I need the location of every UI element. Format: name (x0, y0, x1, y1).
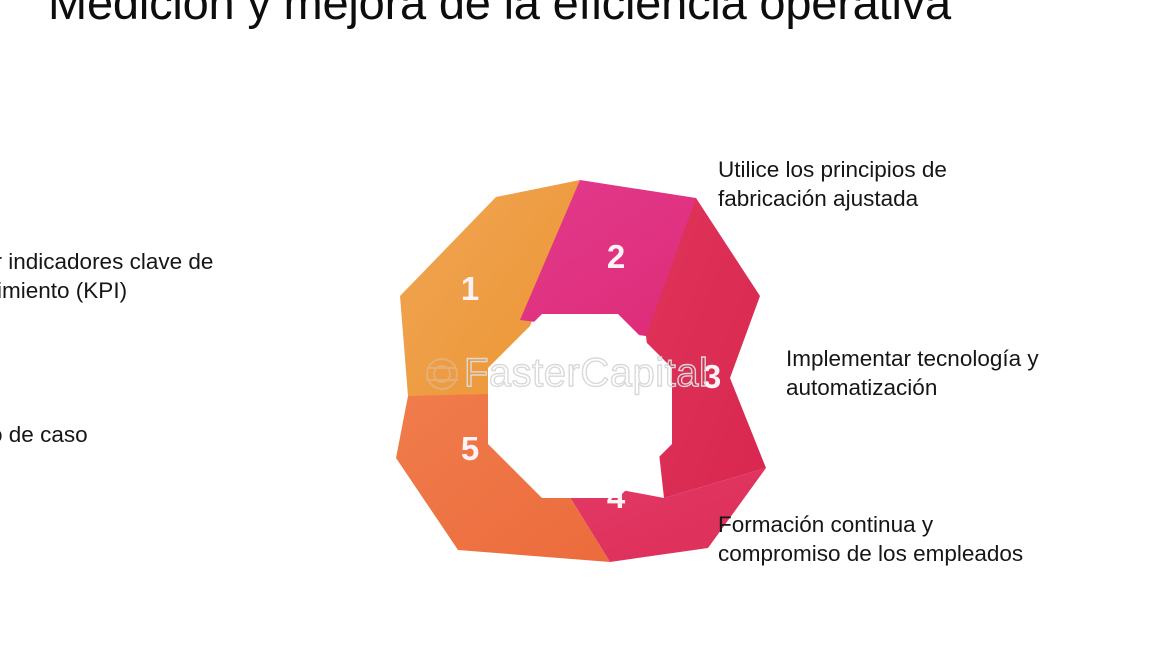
slide-canvas: Medición y mejora de la eficiencia opera… (0, 0, 1152, 648)
callout-line-1: inir indicadores clave de (0, 247, 328, 276)
callout-line-1: Implementar tecnología y (786, 344, 1142, 373)
callout-line-1: Utilice los principios de (718, 155, 1048, 184)
petal-number-1: 1 (461, 270, 479, 307)
callout-label-step-1: inir indicadores clave de ndimiento (KPI… (0, 247, 328, 305)
diagram-center-octagon (488, 314, 672, 498)
callout-line-1: Formación continua y (718, 510, 1130, 539)
callout-line-2: ndimiento (KPI) (0, 276, 328, 305)
callout-label-step-3: Implementar tecnología y automatización (786, 344, 1142, 402)
callout-line-2: automatización (786, 373, 1142, 402)
petal-number-2: 2 (607, 238, 625, 275)
callout-line-2: compromiso de los empleados (718, 539, 1130, 568)
callout-label-step-4: Formación continua y compromiso de los e… (718, 510, 1130, 568)
callout-line-2: fabricación ajustada (718, 184, 1048, 213)
petal-number-5: 5 (461, 430, 479, 467)
callout-label-step-5: udio de caso (0, 420, 220, 449)
callout-line-1: udio de caso (0, 420, 220, 449)
page-title: Medición y mejora de la eficiencia opera… (48, 0, 1108, 29)
callout-label-step-2: Utilice los principios de fabricación aj… (718, 155, 1048, 213)
petal-number-3: 3 (703, 358, 721, 395)
